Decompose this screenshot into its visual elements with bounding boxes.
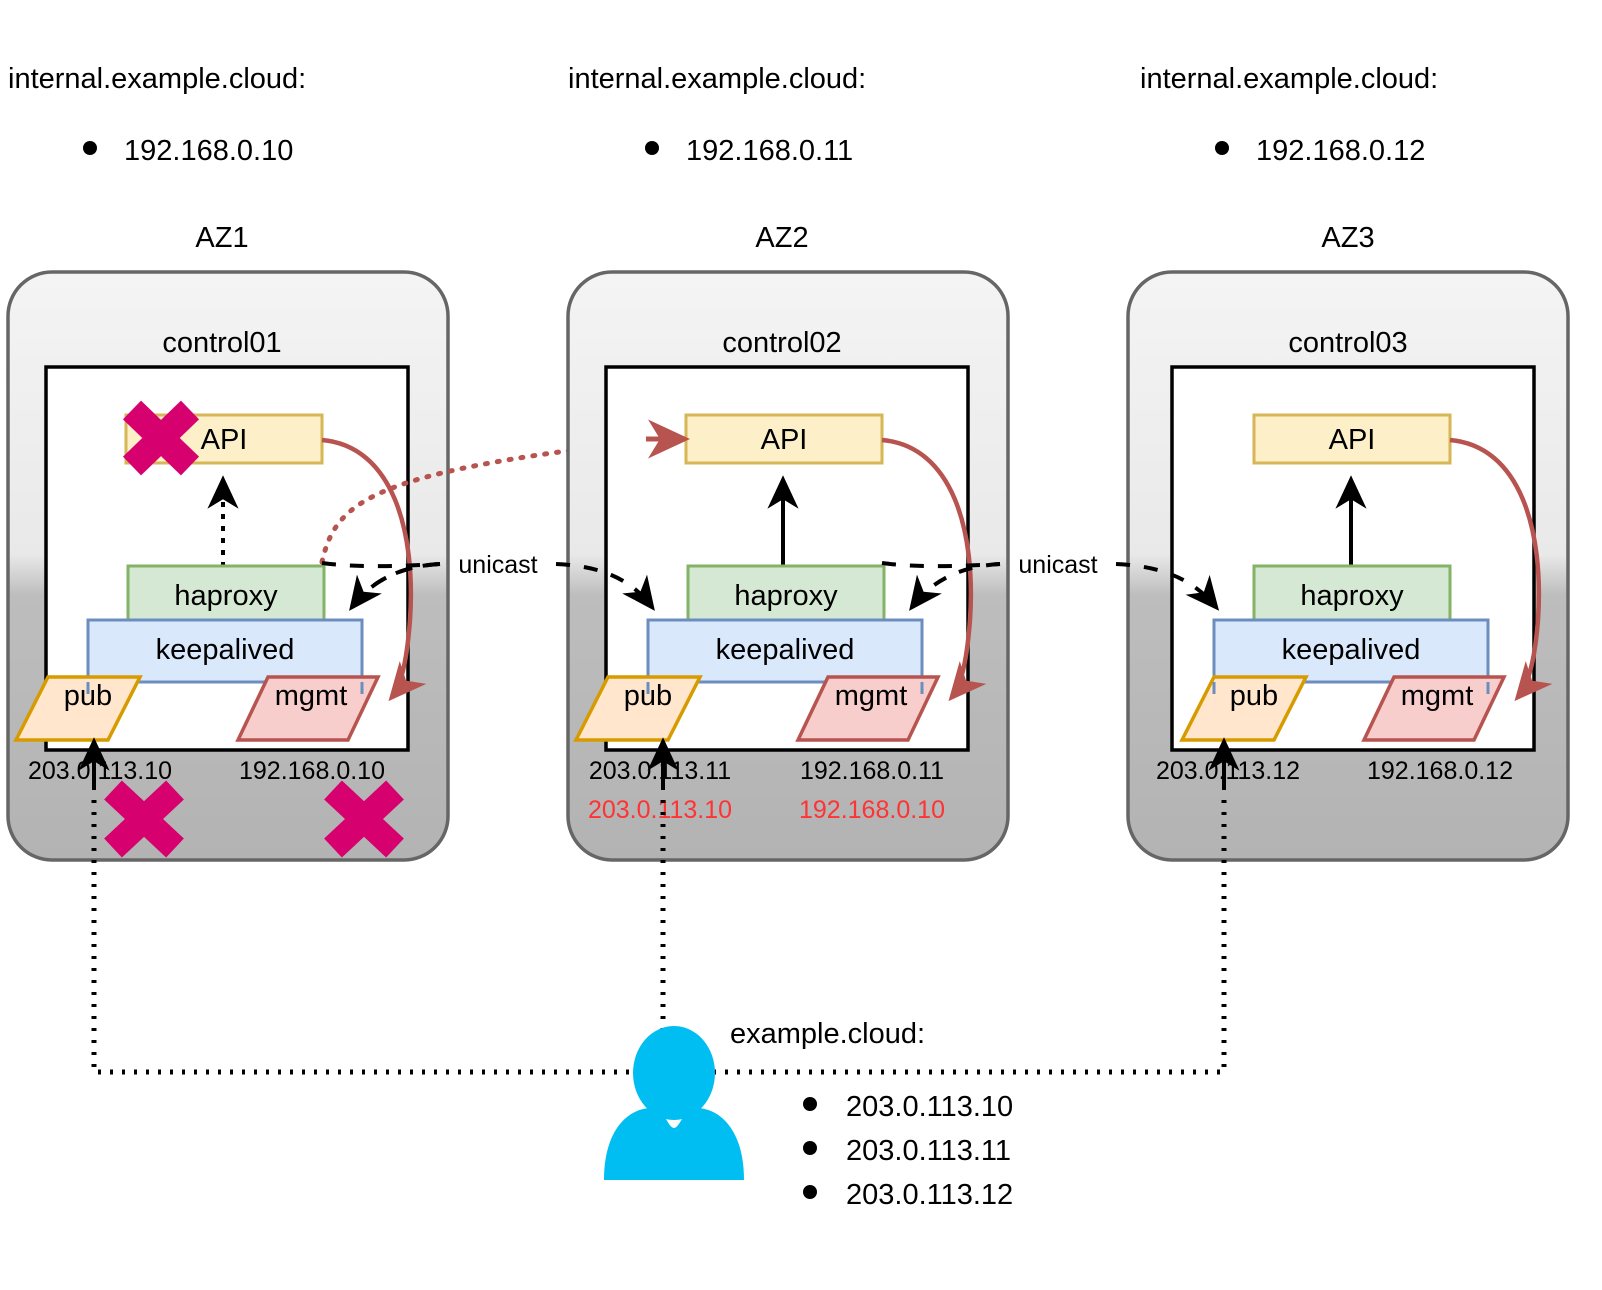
- node-name-3: control03: [1288, 327, 1407, 359]
- internal-dns-az2: internal.example.cloud: 192.168.0.11: [568, 63, 866, 167]
- az-container-3[interactable]: control03 API haproxy keepalived pub mgm…: [1128, 272, 1568, 860]
- api-label-3: API: [1329, 424, 1376, 456]
- bullet-icon: [1215, 141, 1229, 155]
- mgmt-label-2: mgmt: [835, 680, 908, 712]
- api-label-2: API: [761, 424, 808, 456]
- az-label-2: AZ2: [755, 222, 808, 254]
- network-architecture-diagram: internal.example.cloud: 192.168.0.10 int…: [0, 0, 1602, 1290]
- keepalived-label-2: keepalived: [716, 634, 855, 666]
- public-dns-label: example.cloud:: [730, 1018, 925, 1050]
- pub-label-3: pub: [1230, 680, 1278, 712]
- mgmt-label-1: mgmt: [275, 680, 348, 712]
- user-icon: [604, 1026, 744, 1180]
- az-label-1: AZ1: [195, 222, 248, 254]
- internal-dns-label-1: internal.example.cloud:: [8, 63, 306, 95]
- internal-dns-az3: internal.example.cloud: 192.168.0.12: [1140, 63, 1438, 167]
- bullet-icon: [645, 141, 659, 155]
- public-dns-ip-3: 203.0.113.12: [846, 1179, 1013, 1211]
- keepalived-label-3: keepalived: [1282, 634, 1421, 666]
- mgmt-address-3: 192.168.0.12: [1367, 757, 1513, 785]
- api-label-1: API: [201, 424, 248, 456]
- internal-dns-label-3: internal.example.cloud:: [1140, 63, 1438, 95]
- bullet-icon: [83, 141, 97, 155]
- node-name-2: control02: [722, 327, 841, 359]
- internal-dns-ip-2: 192.168.0.11: [686, 135, 853, 167]
- haproxy-label-1: haproxy: [174, 580, 278, 612]
- public-dns-block: example.cloud: 203.0.113.10 203.0.113.11…: [730, 1018, 1013, 1211]
- pub-address-moved-2: 203.0.113.10: [588, 796, 732, 824]
- az-label-3: AZ3: [1321, 222, 1374, 254]
- public-dns-ip-1: 203.0.113.10: [846, 1091, 1013, 1123]
- bullet-icon: [803, 1185, 817, 1199]
- internal-dns-label-2: internal.example.cloud:: [568, 63, 866, 95]
- bullet-icon: [803, 1097, 817, 1111]
- mgmt-address-moved-2: 192.168.0.10: [799, 796, 945, 824]
- mgmt-label-3: mgmt: [1401, 680, 1474, 712]
- mgmt-address-2: 192.168.0.11: [800, 757, 944, 785]
- haproxy-label-2: haproxy: [734, 580, 838, 612]
- user-head: [633, 1026, 715, 1120]
- internal-dns-az1: internal.example.cloud: 192.168.0.10: [8, 63, 306, 167]
- public-dns-ip-2: 203.0.113.11: [846, 1135, 1011, 1167]
- node-name-1: control01: [162, 327, 281, 359]
- internal-dns-ip-1: 192.168.0.10: [124, 135, 293, 167]
- pub-address-2: 203.0.113.11: [589, 757, 731, 785]
- internal-dns-ip-3: 192.168.0.12: [1256, 135, 1425, 167]
- pub-address-3: 203.0.113.12: [1156, 757, 1300, 785]
- unicast-label-1: unicast: [458, 551, 537, 579]
- unicast-label-2: unicast: [1018, 551, 1097, 579]
- haproxy-label-3: haproxy: [1300, 580, 1404, 612]
- mgmt-address-1: 192.168.0.10: [239, 757, 385, 785]
- keepalived-label-1: keepalived: [156, 634, 295, 666]
- diagram-canvas: internal.example.cloud: 192.168.0.10 int…: [0, 0, 1602, 1290]
- bullet-icon: [803, 1141, 817, 1155]
- pub-address-1: 203.0.113.10: [28, 757, 172, 785]
